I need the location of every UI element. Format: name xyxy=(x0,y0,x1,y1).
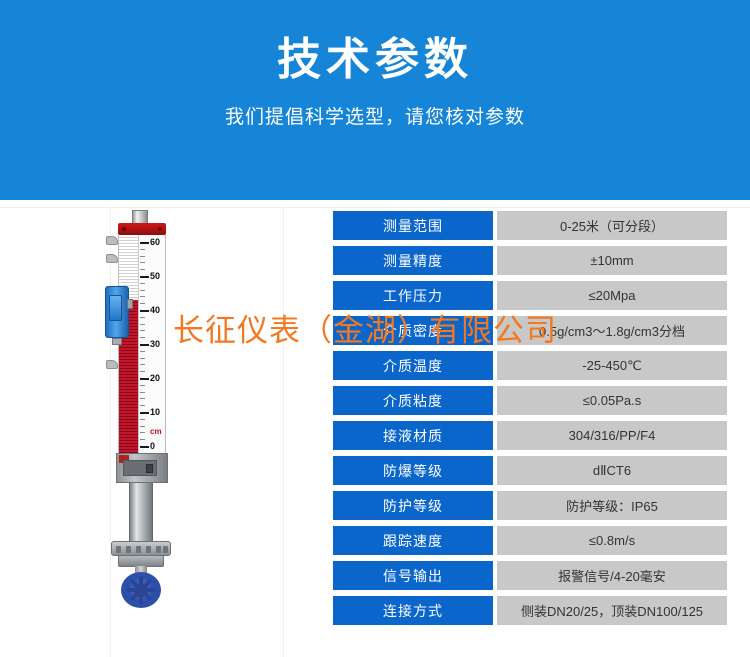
scale-number: 50 xyxy=(150,272,160,280)
table-row: 测量范围0-25米（可分段） xyxy=(333,211,727,240)
spec-value-cell: 0.5g/cm3～1.8g/cm3分档 xyxy=(497,316,727,345)
scale-tick-minor xyxy=(140,249,145,250)
specification-table: 测量范围0-25米（可分段）测量精度±10mm工作压力≤20Mpa介质密度0.5… xyxy=(333,211,727,631)
spec-value-cell: 防护等级：IP65 xyxy=(497,491,727,520)
gauge-top-cap xyxy=(118,223,166,235)
scale-number: 10 xyxy=(150,408,160,416)
magnetic-level-gauge-illustration: 6050403020100cm xyxy=(100,210,210,610)
gauge-scale: 6050403020100cm xyxy=(140,235,166,453)
scale-tick-minor xyxy=(140,358,145,359)
spec-value-cell: 304/316/PP/F4 xyxy=(497,421,727,450)
scale-tick-minor xyxy=(140,392,145,393)
scale-tick-minor xyxy=(140,371,145,372)
scale-number: 30 xyxy=(150,340,160,348)
scale-tick-minor xyxy=(140,432,145,433)
spec-label-cell: 防护等级 xyxy=(333,491,493,520)
scale-unit-label: cm xyxy=(150,428,162,436)
housing-window xyxy=(146,464,153,473)
flange-bolt xyxy=(136,546,141,553)
flange-bolt xyxy=(163,546,168,553)
scale-tick-major xyxy=(140,412,149,414)
scale-tick-major xyxy=(140,344,149,346)
flange-bolt xyxy=(146,546,151,553)
gauge-top-nipple xyxy=(132,210,148,224)
page-banner: 技术参数 我们提倡科学选型，请您核对参数 xyxy=(0,0,750,200)
banner-divider xyxy=(0,207,750,208)
scale-tick-minor xyxy=(140,398,145,399)
scale-number: 20 xyxy=(150,374,160,382)
table-row: 防护等级防护等级：IP65 xyxy=(333,491,727,520)
spec-label-cell: 介质密度 xyxy=(333,316,493,345)
scale-tick-minor xyxy=(140,317,145,318)
housing-nameplate xyxy=(123,460,157,476)
transmitter-head xyxy=(105,286,129,338)
scale-tick-major xyxy=(140,276,149,278)
spec-label-cell: 防爆等级 xyxy=(333,456,493,485)
spec-label-cell: 测量范围 xyxy=(333,211,493,240)
spec-label-cell: 工作压力 xyxy=(333,281,493,310)
spec-value-cell: 侧装DN20/25，顶装DN100/125 xyxy=(497,596,727,625)
column-divider-right xyxy=(283,207,284,657)
transmitter-display-face xyxy=(109,295,122,321)
page-subtitle: 我们提倡科学选型，请您核对参数 xyxy=(225,102,525,129)
scale-tick-major xyxy=(140,242,149,244)
table-row: 跟踪速度≤0.8m/s xyxy=(333,526,727,555)
spec-value-cell: 0-25米（可分段） xyxy=(497,211,727,240)
table-row: 信号输出报警信号/4-20毫安 xyxy=(333,561,727,590)
scale-tick-minor xyxy=(140,269,145,270)
scale-tick-minor xyxy=(140,385,145,386)
transmitter-cable-gland xyxy=(127,299,133,309)
scale-tick-minor xyxy=(140,303,145,304)
transmitter-mount-stub xyxy=(112,338,122,345)
spec-value-cell: -25-450℃ xyxy=(497,351,727,380)
spec-label-cell: 跟踪速度 xyxy=(333,526,493,555)
scale-tick-minor xyxy=(140,283,145,284)
scale-tick-minor xyxy=(140,324,145,325)
gauge-stem-pipe xyxy=(129,483,153,543)
scale-tick-minor xyxy=(140,337,145,338)
table-row: 防爆等级dⅡCT6 xyxy=(333,456,727,485)
scale-number: 0 xyxy=(150,442,155,450)
scale-tick-major xyxy=(140,446,149,448)
page-title: 技术参数 xyxy=(277,36,473,84)
spec-value-cell: ≤0.05Pa.s xyxy=(497,386,727,415)
spec-value-cell: dⅡCT6 xyxy=(497,456,727,485)
flange-bolt xyxy=(126,546,131,553)
spec-value-cell: ≤20Mpa xyxy=(497,281,727,310)
spec-label-cell: 接液材质 xyxy=(333,421,493,450)
table-row: 测量精度±10mm xyxy=(333,246,727,275)
scale-tick-minor xyxy=(140,290,145,291)
gauge-clip-upper xyxy=(106,236,118,245)
table-row: 工作压力≤20Mpa xyxy=(333,281,727,310)
valve-handwheel xyxy=(121,572,161,608)
spec-label-cell: 测量精度 xyxy=(333,246,493,275)
gauge-flange xyxy=(111,541,171,556)
table-row: 连接方式侧装DN20/25，顶装DN100/125 xyxy=(333,596,727,625)
scale-tick-minor xyxy=(140,364,145,365)
scale-tick-minor xyxy=(140,426,145,427)
table-row: 介质密度0.5g/cm3～1.8g/cm3分档 xyxy=(333,316,727,345)
spec-label-cell: 连接方式 xyxy=(333,596,493,625)
scale-tick-minor xyxy=(140,405,145,406)
spec-value-cell: ±10mm xyxy=(497,246,727,275)
scale-tick-major xyxy=(140,378,149,380)
gauge-lower-housing xyxy=(116,453,168,483)
spec-value-cell: ≤0.8m/s xyxy=(497,526,727,555)
table-row: 接液材质304/316/PP/F4 xyxy=(333,421,727,450)
spec-value-cell: 报警信号/4-20毫安 xyxy=(497,561,727,590)
table-row: 介质粘度≤0.05Pa.s xyxy=(333,386,727,415)
flange-bolt xyxy=(156,546,161,553)
spec-label-cell: 信号输出 xyxy=(333,561,493,590)
scale-tick-minor xyxy=(140,419,145,420)
scale-tick-minor xyxy=(140,296,145,297)
scale-number: 60 xyxy=(150,238,160,246)
spec-label-cell: 介质粘度 xyxy=(333,386,493,415)
gauge-clip-middle xyxy=(106,254,118,263)
scale-number: 40 xyxy=(150,306,160,314)
scale-tick-minor xyxy=(140,256,145,257)
scale-tick-major xyxy=(140,310,149,312)
spec-label-cell: 介质温度 xyxy=(333,351,493,380)
product-spec-page: 技术参数 我们提倡科学选型，请您核对参数 6050403020100cm xyxy=(0,0,750,657)
table-row: 介质温度-25-450℃ xyxy=(333,351,727,380)
gauge-clip-lower xyxy=(106,360,118,369)
scale-tick-minor xyxy=(140,262,145,263)
scale-tick-minor xyxy=(140,351,145,352)
gauge-indicator-column: 6050403020100cm xyxy=(118,235,166,453)
scale-tick-minor xyxy=(140,330,145,331)
scale-tick-minor xyxy=(140,439,145,440)
flange-bolt xyxy=(116,546,121,553)
